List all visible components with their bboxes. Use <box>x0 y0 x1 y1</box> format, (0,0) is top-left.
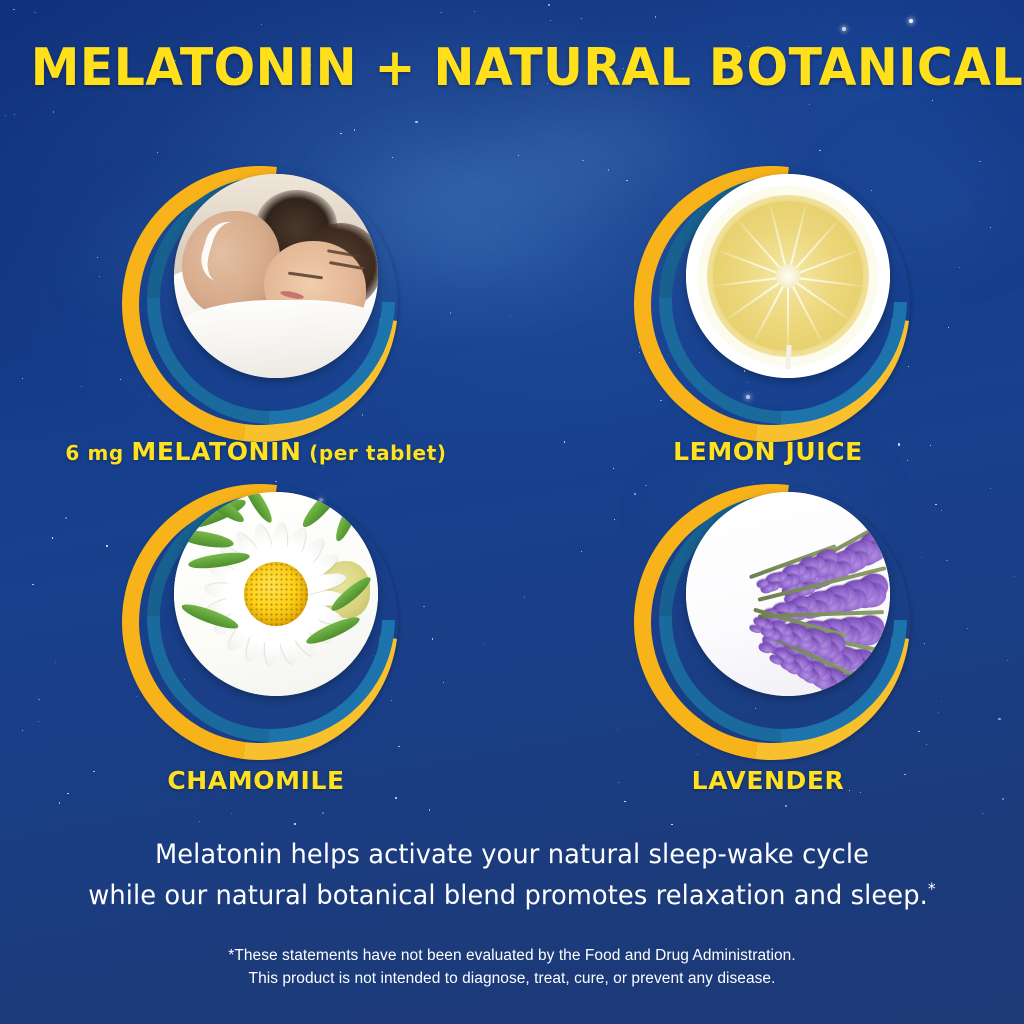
star <box>785 805 786 806</box>
star <box>354 129 355 130</box>
label-lead: 6 mg <box>65 441 131 465</box>
sleeping-woman-photo <box>174 174 378 378</box>
star <box>518 155 519 156</box>
star <box>322 812 323 813</box>
star <box>13 9 14 10</box>
star <box>14 114 15 115</box>
star <box>415 121 417 123</box>
star <box>581 18 582 19</box>
star <box>655 16 656 17</box>
label-main: MELATONIN <box>131 437 301 466</box>
ingredient-grid: 6 mg MELATONIN (per tablet) LEMON JUIC <box>0 160 1024 800</box>
page-title: MELATONIN + NATURAL BOTANICALS <box>31 38 994 98</box>
label-main: CHAMOMILE <box>167 766 344 795</box>
body-line-2-text: while our natural botanical blend promot… <box>88 880 928 911</box>
label-main: LEMON JUICE <box>673 437 863 466</box>
star <box>34 12 35 13</box>
chamomile-leaf <box>332 497 362 544</box>
lemon-segment-line <box>787 277 789 352</box>
star <box>53 111 54 112</box>
ingredient-label-lemon-juice: LEMON JUICE <box>512 437 1024 466</box>
fda-disclaimer: *These statements have not been evaluate… <box>0 944 1024 990</box>
chamomile-flower-photo <box>174 492 378 696</box>
star <box>294 823 295 824</box>
star <box>5 115 6 116</box>
star <box>819 150 820 151</box>
label-trail: (per tablet) <box>302 441 447 465</box>
star <box>842 27 846 31</box>
label-main: LAVENDER <box>692 766 845 795</box>
body-line-1: Melatonin helps activate your natural sl… <box>15 838 1008 872</box>
ingredient-card-lavender[interactable]: LAVENDER <box>512 478 1024 798</box>
ingredient-card-chamomile[interactable]: CHAMOMILE <box>0 478 512 798</box>
star <box>392 157 393 158</box>
star <box>59 802 60 803</box>
crescent-moon-frame <box>116 160 396 430</box>
star <box>624 801 625 802</box>
star <box>231 813 232 814</box>
body-copy: Melatonin helps activate your natural sl… <box>15 838 1008 913</box>
lemon-slice-photo <box>686 174 890 378</box>
chamomile-leaf <box>240 492 276 526</box>
star <box>982 813 983 814</box>
star <box>429 809 430 810</box>
star <box>909 19 913 23</box>
asterisk-marker: * <box>928 879 936 898</box>
star <box>474 11 475 12</box>
chamomile-leaf <box>175 527 235 551</box>
ingredient-label-chamomile: CHAMOMILE <box>0 766 512 795</box>
star <box>671 824 672 825</box>
crescent-moon-frame <box>116 478 396 748</box>
body-line-2: while our natural botanical blend promot… <box>15 872 1008 913</box>
crescent-moon-frame <box>628 160 908 430</box>
ingredient-card-melatonin[interactable]: 6 mg MELATONIN (per tablet) <box>0 160 512 480</box>
disclaimer-line-1: *These statements have not been evaluate… <box>0 944 1024 967</box>
ingredient-card-lemon-juice[interactable]: LEMON JUICE <box>512 160 1024 480</box>
star <box>157 152 158 153</box>
star <box>550 20 551 21</box>
star <box>261 24 262 25</box>
lavender-flowers-photo <box>686 492 890 696</box>
star <box>932 100 933 101</box>
star <box>340 133 341 134</box>
ingredient-label-lavender: LAVENDER <box>512 766 1024 795</box>
star <box>809 104 810 105</box>
crescent-moon-frame <box>628 478 908 748</box>
star <box>548 4 549 5</box>
star <box>199 821 200 822</box>
ingredient-label-melatonin: 6 mg MELATONIN (per tablet) <box>0 437 512 466</box>
disclaimer-line-2: This product is not intended to diagnose… <box>0 967 1024 990</box>
product-infographic: MELATONIN + NATURAL BOTANICALS <box>0 0 1024 1024</box>
star <box>440 12 441 13</box>
